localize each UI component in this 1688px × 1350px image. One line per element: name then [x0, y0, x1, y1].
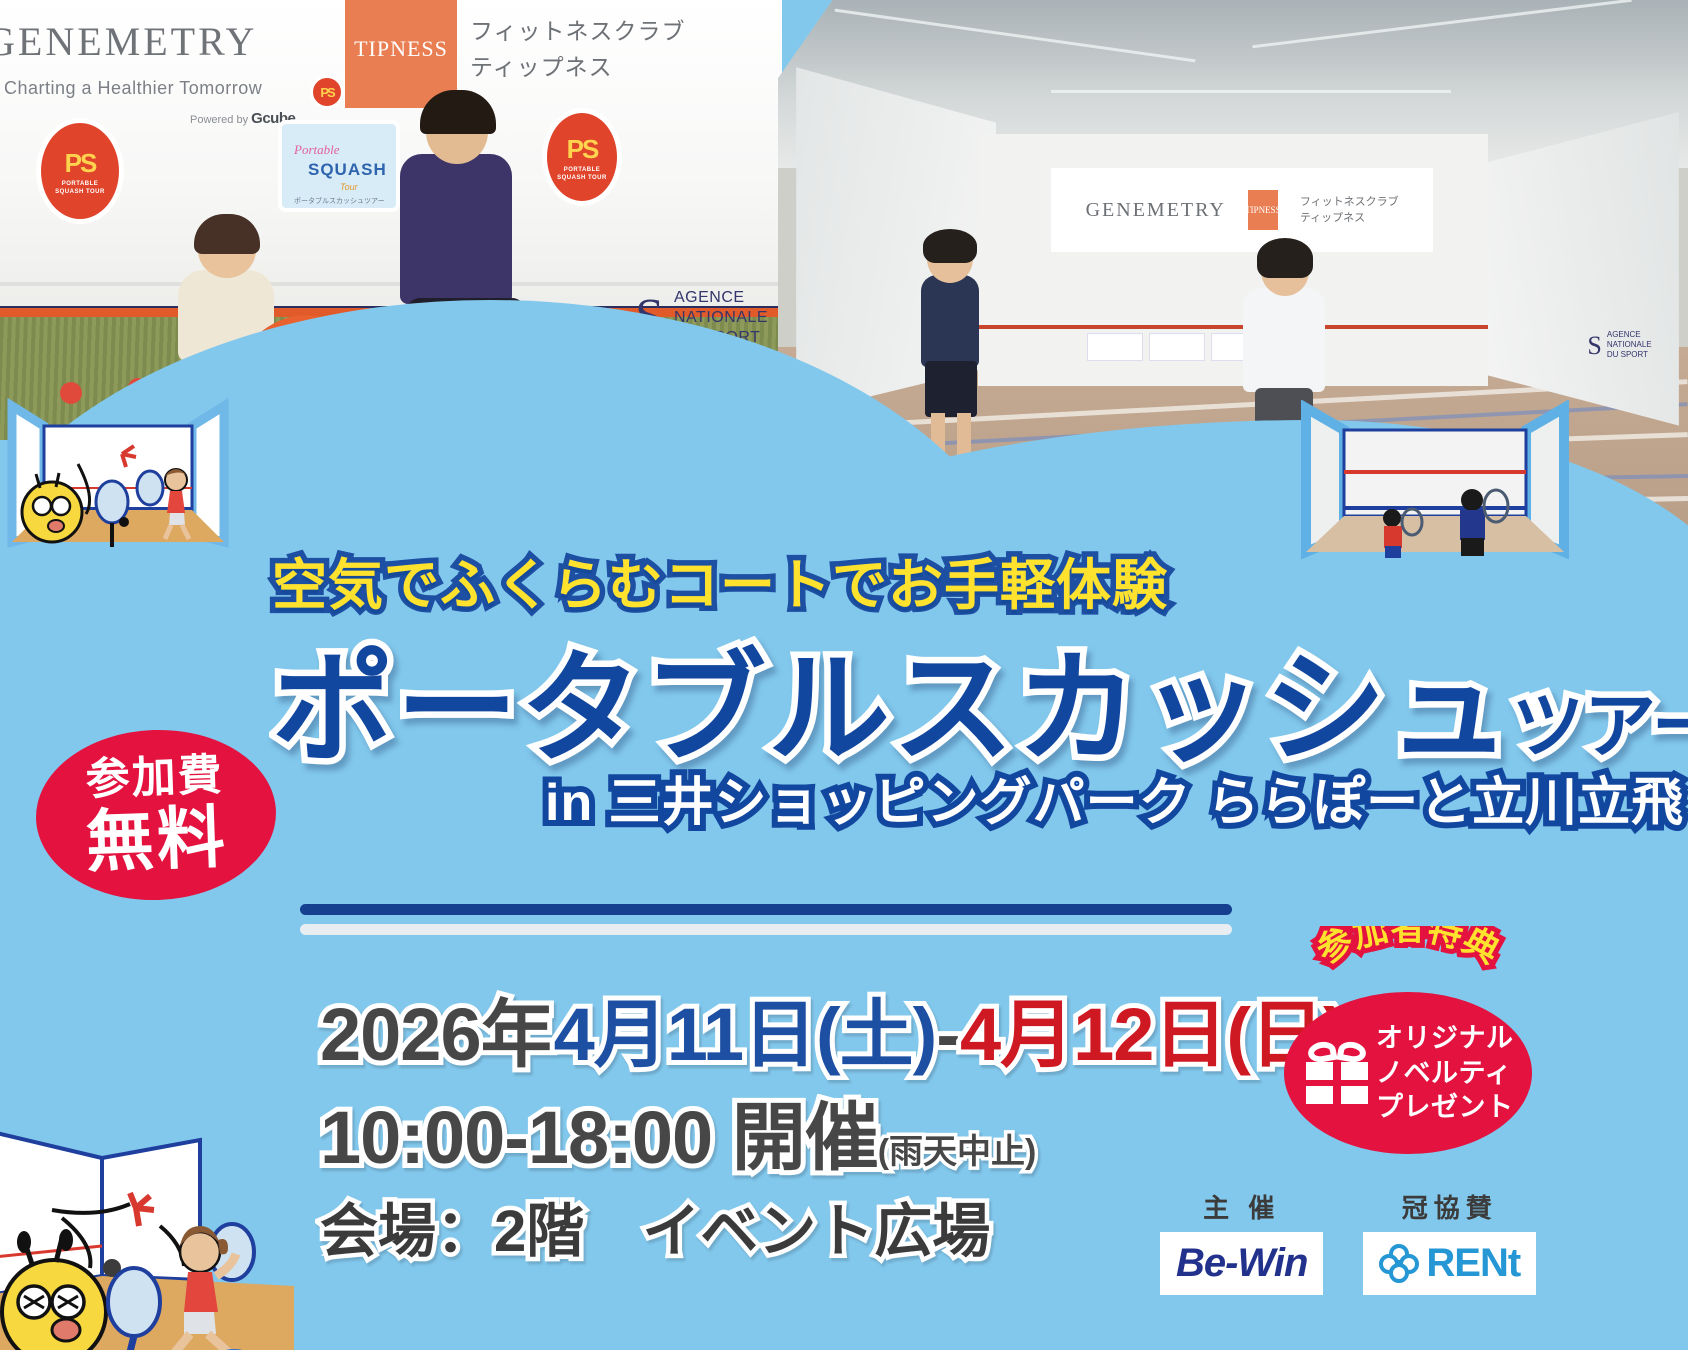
perk-arc-label: 参加者特典 — [1310, 926, 1505, 971]
perk-badge: 参加者特典 オリジナル ノベルティ プレゼント — [1278, 940, 1538, 1155]
agence-nationale-logo-right: S AGENCE NATIONALE DU SPORT — [1587, 330, 1651, 360]
agence-text: AGENCE NATIONALE DU SPORT — [1607, 330, 1652, 360]
sponsor-board — [1087, 333, 1143, 361]
court-illustration-bottom-left — [0, 1040, 294, 1350]
time-range: 10:00-18:00 開催 — [320, 1096, 878, 1179]
sign-portable-text: Portable — [294, 142, 340, 158]
court-illustration-right — [1300, 400, 1570, 560]
clover-icon — [1379, 1244, 1419, 1284]
ps-badge-sub2: SQUASH TOUR — [557, 175, 607, 181]
be-win-logo: Be-Win — [1176, 1241, 1307, 1286]
genemetry-tagline-left: Charting a Healthier Tomorrow — [4, 78, 262, 99]
agence-s-mark: S — [1587, 334, 1601, 357]
agence-line1: AGENCE — [674, 288, 768, 308]
time-note: (雨天中止) — [878, 1133, 1037, 1171]
perk-circle: オリジナル ノベルティ プレゼント — [1284, 992, 1532, 1154]
boy-shirt — [921, 275, 979, 367]
court-illustration-svg — [0, 1040, 294, 1350]
sign-tour-text: Tour — [340, 182, 358, 192]
ps-badge-left-1: PS PORTABLE SQUASH TOUR — [36, 118, 124, 224]
perk-line-1: オリジナル — [1376, 1021, 1514, 1056]
event-poster: GENEMETRY Charting a Healthier Tomorrow … — [0, 0, 1688, 1350]
event-time: 10:00-18:00 開催(雨天中止) — [320, 1078, 1036, 1185]
tipness-jp-line1: フィットネスクラブ — [470, 14, 686, 50]
gift-bow-left — [1306, 1040, 1337, 1065]
ps-badge-sub1: PORTABLE — [564, 167, 601, 173]
gift-bow-right — [1336, 1040, 1367, 1065]
court-illustration-top-left — [4, 392, 232, 552]
tipness-japanese-right: フィットネスクラブ ティップネス — [1300, 194, 1399, 227]
genemetry-logo-right: GENEMETRY — [1086, 199, 1226, 222]
ps-badge-left-2: PS PORTABLE SQUASH TOUR — [542, 108, 622, 206]
date-year: 2026年 — [320, 993, 554, 1076]
court-illustration-svg — [1300, 400, 1570, 560]
fee-label: 参加費 — [85, 754, 224, 803]
sign-jp-text: ポータブルスカッシュツアー — [294, 196, 385, 206]
fee-value: 無料 — [85, 804, 229, 877]
ps-badge-sub2: SQUASH TOUR — [55, 189, 105, 195]
event-venue: 会場：2階 イベント広場 — [320, 1184, 990, 1268]
agence-line1: AGENCE — [1607, 330, 1652, 340]
sponsor-title-sponsor: 冠協賛 RENt — [1363, 1188, 1536, 1295]
subtitle-location: in 三井ショッピングパーク ららぽーと立川立飛 — [545, 760, 1684, 835]
clover-leaf — [1389, 1263, 1409, 1283]
genemetry-logo-left: GENEMETRY — [0, 18, 257, 65]
tipness-wordmark: TIPNESS — [345, 36, 457, 62]
ceiling-light — [1051, 90, 1451, 93]
sponsor-logo-box: RENt — [1363, 1232, 1536, 1295]
coach-body — [400, 154, 512, 304]
tipness-jp-line1: フィットネスクラブ — [1300, 194, 1399, 211]
sign-squash-text: SQUASH — [308, 160, 387, 180]
rent-logo: RENt — [1426, 1241, 1520, 1286]
event-date: 2026年4月11日(土)-4月12日(日) — [320, 975, 1347, 1082]
court-banner-right: GENEMETRY TIPNESS フィットネスクラブ ティップネス — [1051, 168, 1433, 252]
sponsor-board — [1149, 333, 1205, 361]
agence-line2: NATIONALE — [1607, 340, 1652, 350]
perk-line-2: ノベルティ — [1376, 1056, 1514, 1091]
fee-badge: 参加費 無料 — [33, 726, 279, 904]
ps-badge-small-hanging: PS — [310, 75, 344, 109]
date-first: 4月11日(土) — [554, 993, 937, 1076]
agence-line3: DU SPORT — [1607, 350, 1652, 360]
ps-badge-mark: PS — [567, 134, 598, 165]
sponsor-role-label: 主 催 — [1203, 1188, 1280, 1225]
tagline: 空気でふくらむコートでお手軽体験 — [272, 540, 1168, 620]
court-right-wall — [1488, 112, 1679, 426]
sponsor-logo-box: Be-Win — [1160, 1232, 1323, 1295]
sponsor-role-label: 冠協賛 — [1402, 1188, 1498, 1225]
boy-hair — [1257, 238, 1313, 278]
divider-line-white — [300, 924, 1232, 935]
tipness-japanese-left: フィットネスクラブ ティップネス — [470, 14, 686, 85]
date-dash: - — [936, 993, 960, 1076]
ps-badge-mark: PS — [65, 148, 96, 179]
gift-ribbon-horizontal — [1306, 1080, 1368, 1086]
perk-arc-textpath: 参加者特典 — [1310, 926, 1505, 971]
powered-by-text: Powered by — [190, 114, 248, 126]
divider — [300, 904, 1232, 935]
tipness-jp-line2: ティップネス — [470, 50, 686, 86]
divider-line-blue — [300, 904, 1232, 915]
sponsor-organizer: 主 催 Be-Win — [1160, 1188, 1323, 1295]
boy-hair — [923, 229, 977, 263]
title-main: ポータブルスカッシュ — [272, 641, 1512, 777]
boy-shirt — [1243, 288, 1325, 392]
court-illustration-svg — [4, 392, 232, 552]
title-suffix: ツアー — [1512, 687, 1688, 767]
boy-shorts — [925, 361, 977, 417]
perk-text: オリジナル ノベルティ プレゼント — [1376, 1021, 1514, 1125]
perk-line-3: プレゼント — [1376, 1090, 1514, 1125]
tipness-jp-line2: ティップネス — [1300, 210, 1399, 227]
ps-badge-sub1: PORTABLE — [62, 181, 99, 187]
gift-icon — [1306, 1042, 1368, 1104]
sponsor-row: 主 催 Be-Win 冠協賛 RENt — [1160, 1188, 1536, 1295]
tipness-mark-right: TIPNESS — [1248, 190, 1278, 230]
ps-badge-mark: PS — [320, 85, 333, 100]
